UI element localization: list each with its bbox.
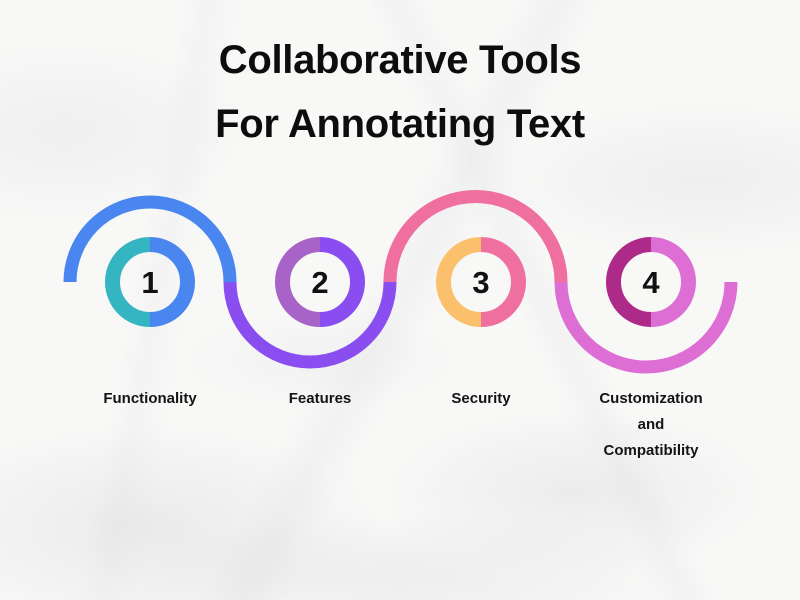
step-number-1: 1 bbox=[105, 237, 195, 327]
step-marker-4[interactable]: 4 bbox=[606, 237, 696, 327]
step-number-3: 3 bbox=[436, 237, 526, 327]
step-label-4: Customization and Compatibility bbox=[561, 386, 741, 464]
infographic-poster: Collaborative Tools For Annotating Text … bbox=[0, 0, 800, 600]
step-marker-3[interactable]: 3 bbox=[436, 237, 526, 327]
step-marker-1[interactable]: 1 bbox=[105, 237, 195, 327]
step-label-2: Features bbox=[230, 386, 410, 412]
step-number-4: 4 bbox=[606, 237, 696, 327]
step-label-1: Functionality bbox=[60, 386, 240, 412]
step-marker-2[interactable]: 2 bbox=[275, 237, 365, 327]
step-number-2: 2 bbox=[275, 237, 365, 327]
step-label-3: Security bbox=[391, 386, 571, 412]
